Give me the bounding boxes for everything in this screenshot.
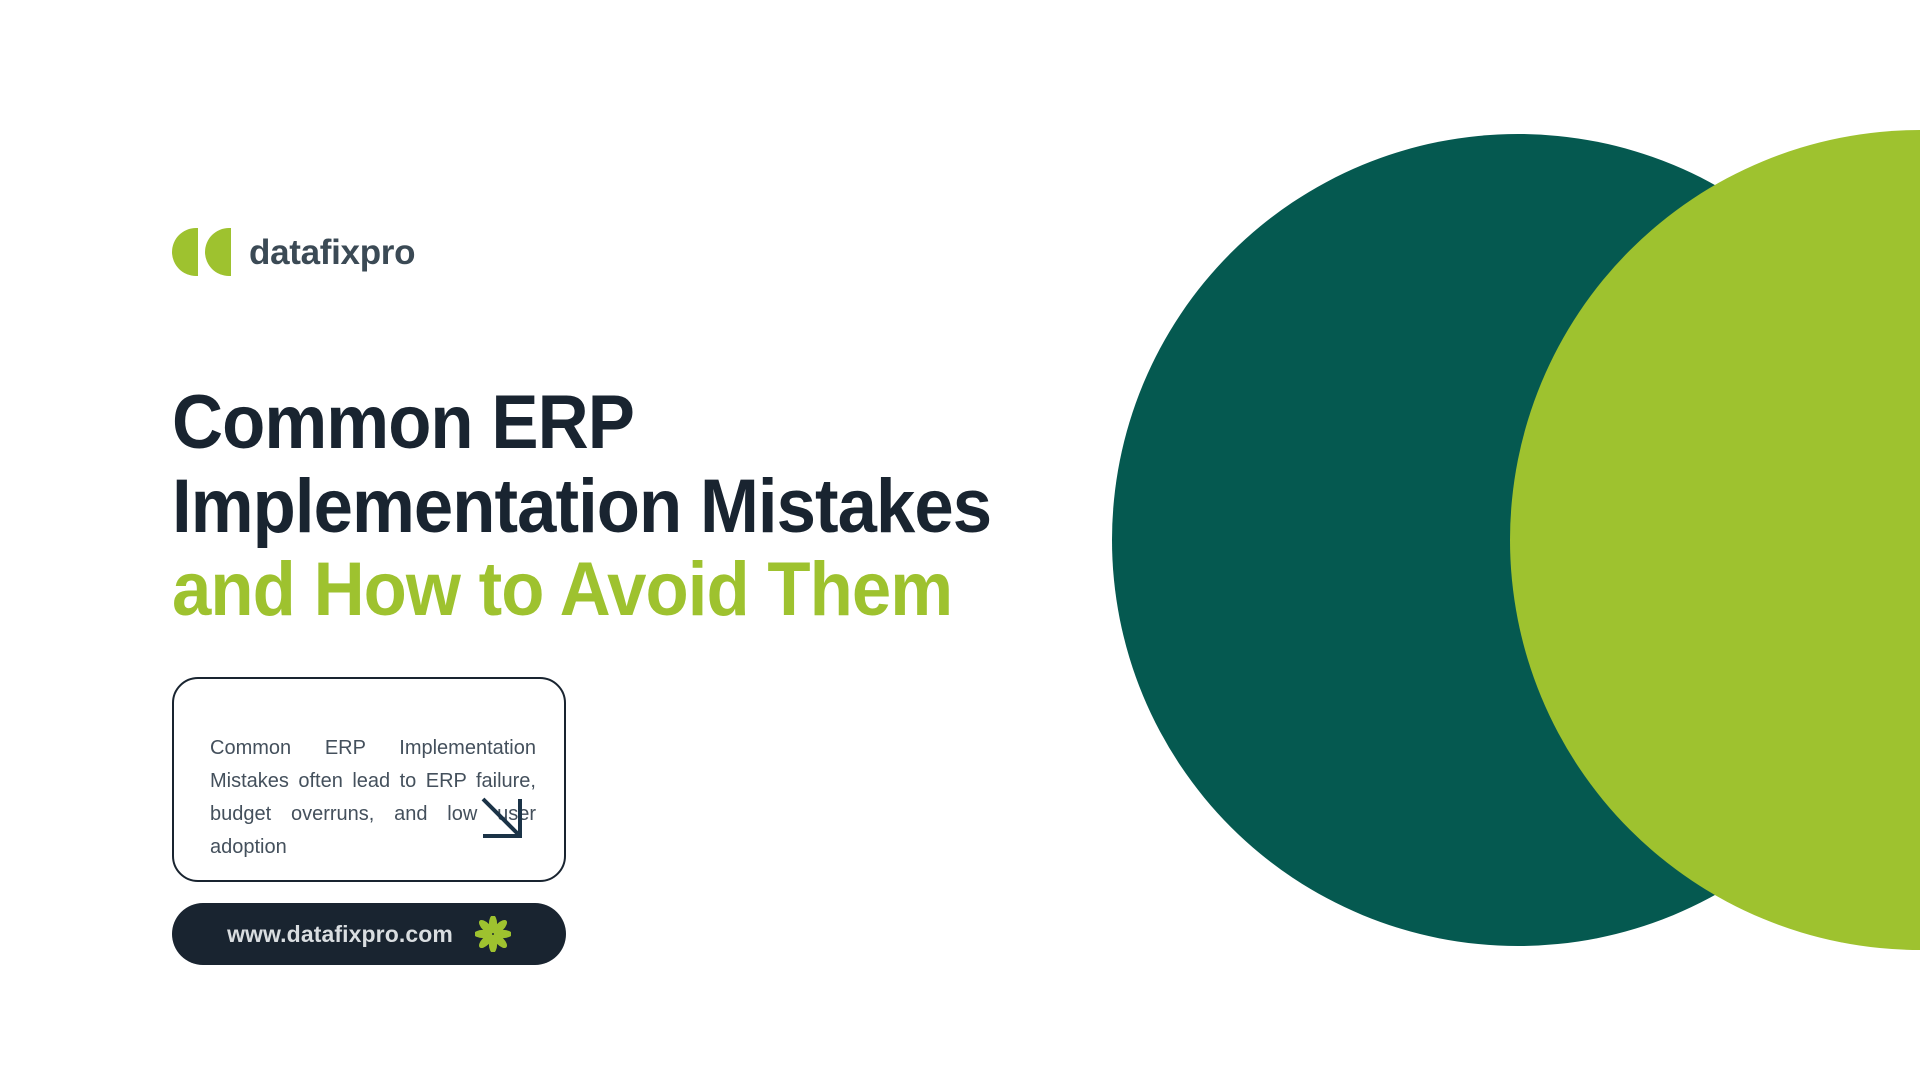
brand-name: datafixpro <box>249 235 415 270</box>
teal-half-circle <box>1112 134 1920 946</box>
datafixpro-logo-mark-icon <box>172 228 231 276</box>
logo-half-circle-right <box>205 228 231 276</box>
green-circle <box>1510 130 1920 950</box>
slide-canvas: datafixpro Common ERP Implementation Mis… <box>0 0 1920 1080</box>
headline-line-3-accent: and How to Avoid Them <box>172 548 1065 632</box>
page-title: Common ERP Implementation Mistakes and H… <box>172 381 1065 632</box>
headline-line-1: Common ERP <box>172 381 1065 465</box>
flower-asterisk-icon <box>475 916 511 952</box>
headline-line-2: Implementation Mistakes <box>172 465 1065 549</box>
website-url-button[interactable]: www.datafixpro.com <box>172 903 566 965</box>
brand-logo[interactable]: datafixpro <box>172 228 415 276</box>
description-card: Common ERP Implementation Mistakes often… <box>172 677 566 882</box>
arrow-down-right-icon <box>480 796 526 842</box>
logo-half-circle-left <box>172 228 198 276</box>
website-url-label: www.datafixpro.com <box>227 921 453 948</box>
